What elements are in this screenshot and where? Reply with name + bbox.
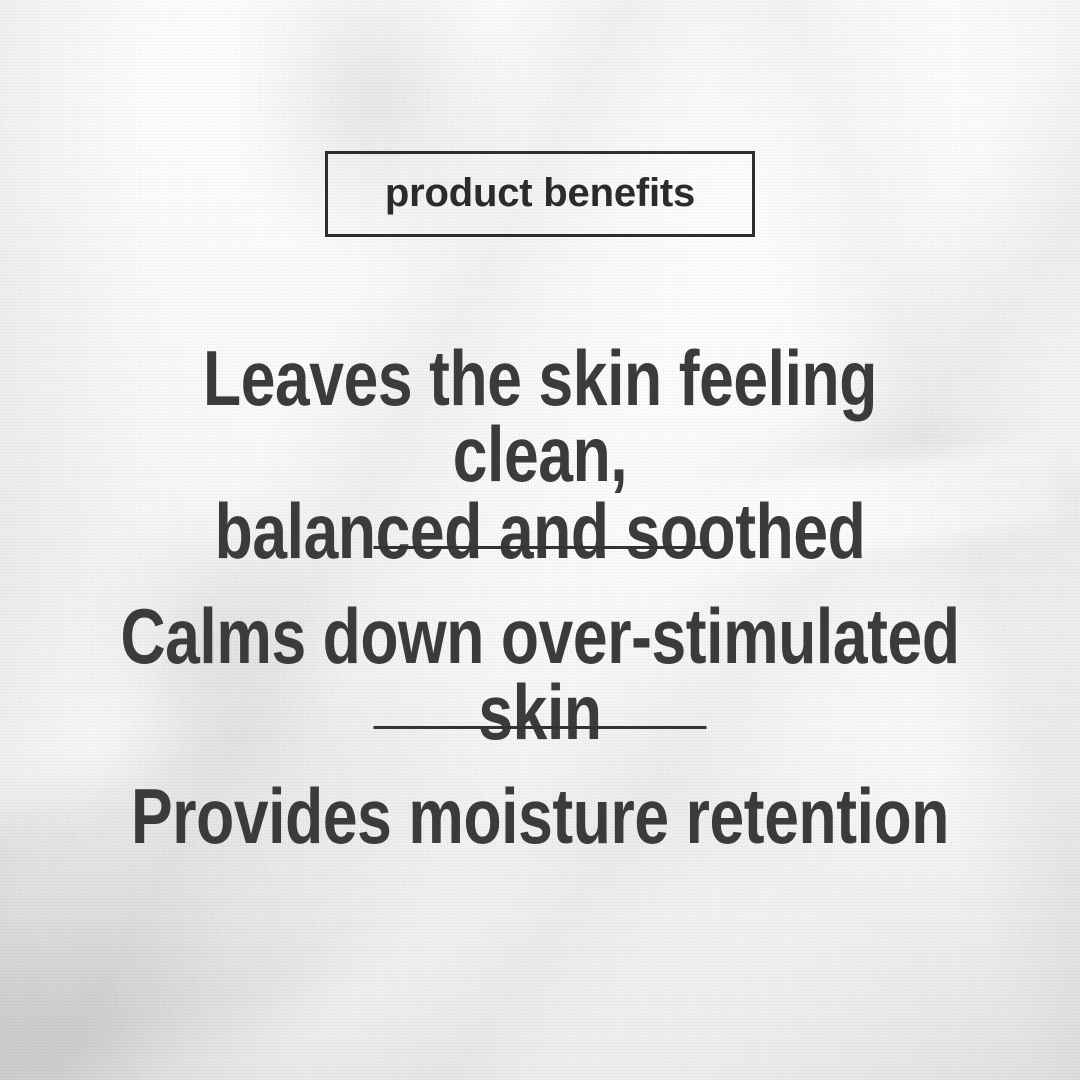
product-benefits-label: product benefits: [385, 173, 695, 216]
content-area: product benefits Leaves the skin feeling…: [0, 0, 1080, 1080]
benefit-item-3: Provides moisture retention: [108, 778, 972, 854]
benefit-divider-2: [374, 726, 707, 729]
benefit-divider-1: [374, 546, 707, 549]
product-benefits-graphic: product benefits Leaves the skin feeling…: [0, 0, 1080, 1080]
benefit-item-1: Leaves the skin feeling clean, balanced …: [108, 340, 972, 569]
product-benefits-label-box: product benefits: [325, 151, 755, 237]
